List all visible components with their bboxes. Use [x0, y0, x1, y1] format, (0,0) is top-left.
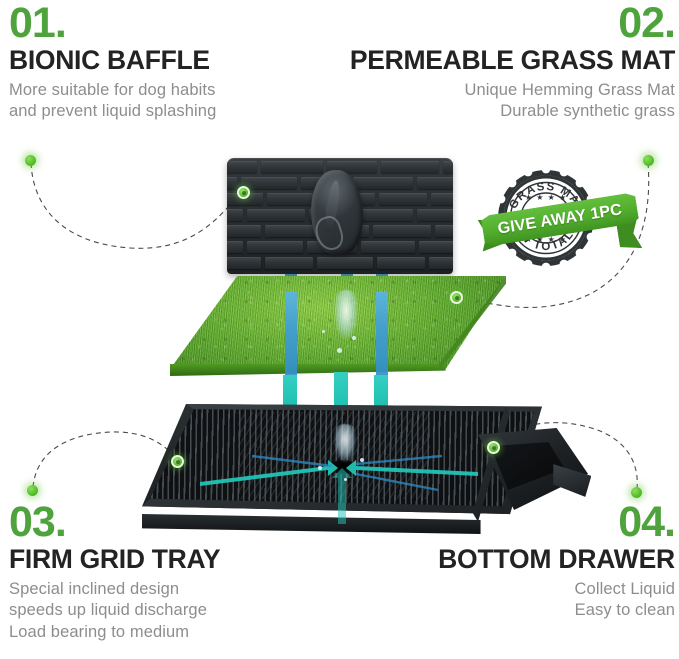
badge-stars-top: ★ ★ ★ ★: [525, 193, 567, 202]
callout-dot-01: [25, 155, 36, 166]
feature-desc-01-line2: and prevent liquid splashing: [9, 101, 216, 123]
marker-tray: [171, 455, 184, 468]
feature-callout-01: 01. BIONIC BAFFLE More suitable for dog …: [9, 3, 216, 123]
feature-number-03: 03.: [9, 502, 220, 543]
feature-title-01: BIONIC BAFFLE: [9, 46, 216, 76]
infographic-canvas: 2 GRASS MATS IN TOTAL ★ ★ ★ ★ ★ ★ ★ ★ GI…: [0, 0, 679, 659]
feature-title-03: FIRM GRID TRAY: [9, 545, 220, 575]
splash-droplet: [360, 458, 364, 462]
grass-hemmed-edge-front: [170, 364, 446, 376]
feature-callout-03: 03. FIRM GRID TRAY Special inclined desi…: [9, 502, 220, 644]
callout-dot-04: [631, 487, 642, 498]
splash-droplet: [318, 466, 322, 470]
feature-title-02: PERMEABLE GRASS MAT: [350, 46, 675, 76]
bionic-baffle-panel[interactable]: [227, 158, 453, 274]
water-stream-blue-left-lower: [285, 292, 297, 384]
marker-baffle: [237, 186, 250, 199]
feature-desc-04-line2: Easy to clean: [438, 600, 675, 622]
splash-droplet: [322, 330, 325, 333]
feature-callout-02: 02. PERMEABLE GRASS MAT Unique Hemming G…: [350, 3, 675, 123]
splash-droplet: [337, 348, 342, 353]
feature-number-01: 01.: [9, 3, 216, 44]
splash-droplet: [352, 336, 356, 340]
connector-path-01: [31, 163, 240, 248]
baffle-foot: [401, 272, 435, 274]
water-splash-tray: [326, 424, 364, 476]
feature-number-02: 02.: [350, 3, 675, 44]
marker-drawer: [487, 441, 500, 454]
feature-desc-02-line2: Durable synthetic grass: [350, 101, 675, 123]
feature-desc-01-line1: More suitable for dog habits: [9, 80, 216, 102]
feature-desc-03-line2: speeds up liquid discharge: [9, 600, 220, 622]
marker-grass-mat: [450, 291, 463, 304]
feature-desc-03-line3: Load bearing to medium: [9, 622, 220, 644]
callout-dot-03: [27, 485, 38, 496]
baffle-foot: [245, 272, 279, 274]
baffle-foot: [323, 272, 357, 274]
feature-callout-04: 04. BOTTOM DRAWER Collect Liquid Easy to…: [438, 502, 675, 622]
water-stream-blue-right-lower: [376, 292, 388, 384]
giveaway-badge: 2 GRASS MATS IN TOTAL ★ ★ ★ ★ ★ ★ ★ ★ GI…: [484, 166, 636, 270]
feature-desc-04-line1: Collect Liquid: [438, 579, 675, 601]
feature-desc-03-line1: Special inclined design: [9, 579, 220, 601]
feature-desc-02-line1: Unique Hemming Grass Mat: [350, 80, 675, 102]
splash-droplet: [344, 478, 347, 481]
feature-title-04: BOTTOM DRAWER: [438, 545, 675, 575]
feature-number-04: 04.: [438, 502, 675, 543]
callout-dot-02: [643, 155, 654, 166]
water-splash-grass: [325, 290, 367, 358]
